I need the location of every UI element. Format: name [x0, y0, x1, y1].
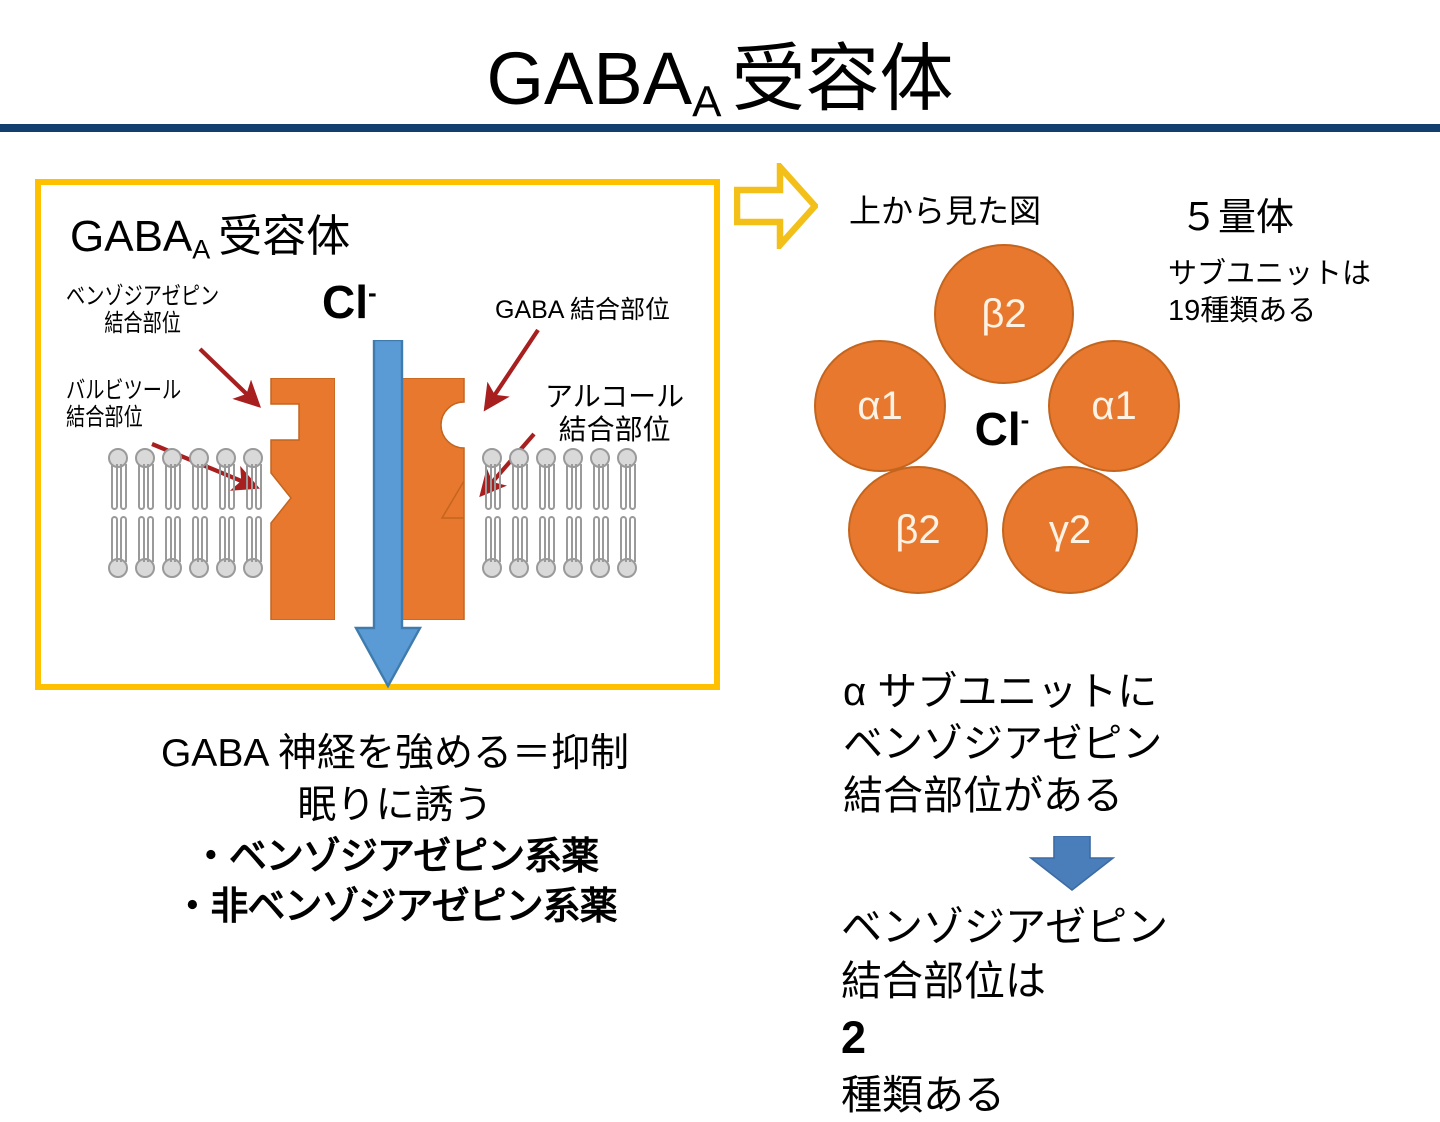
view-from-top-label: 上から見た図	[849, 186, 1041, 232]
gaba-summary-line2: 眠りに誘う	[105, 780, 685, 832]
panel-title: GABAA受容体	[70, 200, 350, 266]
phospholipid	[482, 448, 504, 510]
drug-class-nonbenzodiazepine: ・非ベンゾジアゼピン系薬	[105, 882, 685, 933]
phospholipid	[216, 516, 238, 578]
phospholipid	[563, 448, 585, 510]
page-title-main: GABA	[487, 37, 693, 120]
conclusion-arrow-down-icon	[1027, 836, 1117, 892]
subunit-beta2-top: β2	[934, 244, 1074, 384]
phospholipid	[617, 516, 639, 578]
lipid-tails	[539, 464, 557, 510]
lipid-tails	[512, 516, 530, 562]
phospholipid	[135, 516, 157, 578]
subunit-alpha1-left: α1	[814, 340, 946, 472]
subunit-note-line2: 19種類ある	[1168, 293, 1371, 330]
phospholipid	[536, 516, 558, 578]
lipid-tails	[539, 516, 557, 562]
conclusion-line2-part1: 結合部位は	[841, 954, 1168, 1008]
lipid-tails	[566, 464, 584, 510]
subunit-gamma2: γ2	[1002, 466, 1138, 594]
label-barbiturate-line1: バルビツール	[66, 377, 181, 404]
label-alcohol-line2: 結合部位	[545, 413, 684, 446]
title-divider	[0, 124, 1440, 132]
label-benzodiazepine-line1: ベンゾジアゼピン	[66, 283, 219, 310]
alpha-subunit-note-line1: α サブユニットに	[843, 666, 1162, 718]
phospholipid	[590, 448, 612, 510]
chloride-ion-charge: -	[1021, 405, 1030, 435]
chloride-ion-charge: -	[368, 278, 377, 308]
lipid-tails	[138, 516, 156, 562]
subunit-label: β2	[895, 508, 940, 553]
subunit-alpha1-right: α1	[1048, 340, 1180, 472]
chloride-ion-label-pore: Cl-	[952, 402, 1052, 456]
lipid-tails	[192, 464, 210, 510]
subunit-label: α1	[857, 384, 902, 429]
subunit-count-note: サブユニットは 19種類ある	[1168, 256, 1371, 330]
phospholipid	[108, 448, 130, 510]
transition-arrow-right-icon	[734, 163, 818, 249]
lipid-tails	[593, 516, 611, 562]
slide-canvas: GABAA受容体 GABAA受容体 ベンゾジアゼピン 結合部位 バルビツール 結…	[0, 0, 1440, 1080]
alpha-subunit-note: α サブユニットに ベンゾジアゼピン 結合部位がある	[843, 666, 1162, 822]
lipid-tails	[111, 464, 129, 510]
gaba-summary-text: GABA 神経を強める＝抑制 眠りに誘う ・ベンゾジアゼピン系薬 ・非ベンゾジア…	[105, 728, 685, 933]
phospholipid	[216, 448, 238, 510]
lipid-tails	[485, 464, 503, 510]
subunit-beta2-bottom: β2	[848, 466, 988, 594]
phospholipid	[135, 448, 157, 510]
phospholipid	[162, 448, 184, 510]
conclusion-count: 2	[841, 1008, 1168, 1067]
phospholipid	[536, 448, 558, 510]
lipid-tails	[138, 464, 156, 510]
membrane-bilayer-left	[108, 448, 265, 578]
phospholipid	[563, 516, 585, 578]
lipid-tails	[485, 516, 503, 562]
membrane-bilayer-right	[482, 448, 639, 578]
chloride-ion-symbol: Cl	[975, 403, 1021, 455]
chloride-flow-arrow	[348, 340, 428, 692]
pentamer-label: ５量体	[1180, 186, 1294, 241]
subunit-note-line1: サブユニットは	[1168, 258, 1371, 290]
chloride-ion-symbol: Cl	[322, 276, 368, 328]
lipid-tails	[192, 516, 210, 562]
pentamer-diagram: β2 α1 α1 β2 γ2 Cl-	[806, 240, 1196, 600]
label-barbiturate-binding-site: バルビツール 結合部位	[66, 378, 181, 432]
subunit-label: α1	[1091, 384, 1136, 429]
lipid-tails	[165, 464, 183, 510]
subunit-label: γ2	[1049, 508, 1091, 553]
conclusion-text: ベンゾジアゼピン 結合部位は2種類ある	[841, 900, 1168, 1122]
panel-title-subscript: A	[192, 235, 210, 265]
phospholipid	[590, 516, 612, 578]
phospholipid	[509, 448, 531, 510]
conclusion-line2: 結合部位は2種類ある	[841, 954, 1168, 1122]
page-title-subscript: A	[692, 77, 721, 126]
phospholipid	[162, 516, 184, 578]
lipid-tails	[111, 516, 129, 562]
panel-title-japanese: 受容体	[218, 212, 350, 261]
alpha-subunit-note-line3: 結合部位がある	[843, 770, 1162, 822]
lipid-tails	[566, 516, 584, 562]
phospholipid	[108, 516, 130, 578]
lipid-tails	[620, 464, 638, 510]
lipid-tails	[219, 516, 237, 562]
conclusion-line2-part2: 種類ある	[841, 1068, 1168, 1122]
phospholipid	[189, 448, 211, 510]
label-alcohol-binding-site: アルコール 結合部位	[545, 380, 684, 446]
label-alcohol-line1: アルコール	[545, 381, 684, 412]
page-title: GABAA受容体	[0, 42, 1440, 124]
panel-title-main: GABA	[70, 212, 192, 261]
phospholipid	[189, 516, 211, 578]
lipid-leaflet-outer-left	[108, 448, 265, 510]
lipid-tails	[593, 464, 611, 510]
phospholipid	[509, 516, 531, 578]
label-gaba-binding-site: GABA 結合部位	[495, 296, 670, 324]
lipid-tails	[165, 516, 183, 562]
subunit-label: β2	[981, 292, 1026, 337]
label-benzodiazepine-line2: 結合部位	[66, 311, 219, 338]
label-barbiturate-line2: 結合部位	[66, 404, 143, 431]
drug-class-benzodiazepine: ・ベンゾジアゼピン系薬	[105, 832, 685, 883]
lipid-tails	[620, 516, 638, 562]
phospholipid	[617, 448, 639, 510]
page-title-japanese: 受容体	[732, 37, 954, 120]
lipid-leaflet-inner-left	[108, 516, 265, 578]
conclusion-line1: ベンゾジアゼピン	[841, 900, 1168, 954]
alpha-subunit-note-line2: ベンゾジアゼピン	[843, 718, 1162, 770]
lipid-leaflet-inner-right	[482, 516, 639, 578]
lipid-tails	[512, 464, 530, 510]
chloride-ion-label-channel: Cl-	[322, 275, 377, 329]
lipid-tails	[219, 464, 237, 510]
receptor-subunit-left	[257, 378, 335, 620]
lipid-leaflet-outer-right	[482, 448, 639, 510]
label-benzodiazepine-binding-site: ベンゾジアゼピン 結合部位	[66, 284, 219, 338]
gaba-summary-line1: GABA 神経を強める＝抑制	[105, 728, 685, 780]
phospholipid	[482, 516, 504, 578]
